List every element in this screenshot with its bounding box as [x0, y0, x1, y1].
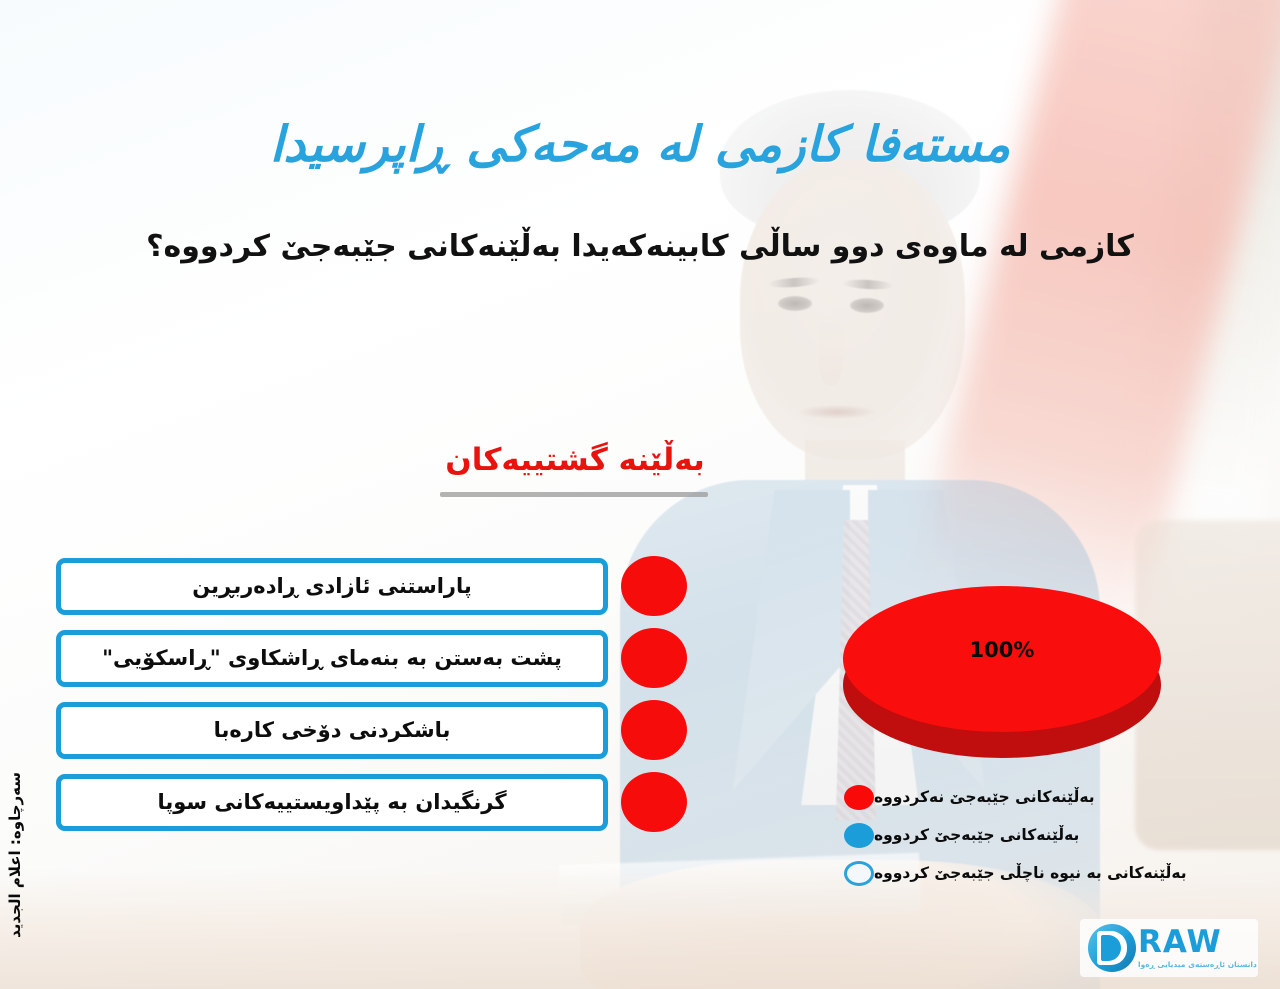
promise-text: پشت بەستن بە بنەمای ڕاشکاوی "ڕاسکۆیی": [102, 646, 562, 670]
promises-list: پاراستنی ئازادی ڕادەربڕین پشت بەستن بە ب…: [56, 552, 696, 840]
section-heading-general-promises: بەڵێنە گشتییەکان: [430, 442, 720, 478]
page-title: مستەفا کازمی لە مەحەکی ڕاپرسیدا: [0, 118, 1280, 172]
legend-label: بەڵێنەکانی بە نیوە ناچڵی جێبەجێ کردووە: [874, 864, 1187, 882]
draw-logo-tagline: دانستان ئاڕەستەی میدیایی ڕەوا: [1138, 961, 1257, 969]
promise-text: گرنگیدان بە پێداویستییەکانی سوپا: [157, 790, 506, 814]
foreground-content: مستەفا کازمی لە مەحەکی ڕاپرسیدا کازمی لە…: [0, 0, 1280, 989]
section-heading-underline: [440, 492, 708, 497]
red-circle-icon: [621, 700, 687, 760]
draw-logo-wordmark: RAW: [1138, 927, 1257, 958]
legend-item-fulfilled[interactable]: بەڵێنەکانی جێبەجێ کردووە: [830, 816, 1240, 854]
red-circle-icon: [621, 556, 687, 616]
legend-item-partially-fulfilled[interactable]: بەڵێنەکانی بە نیوە ناچڵی جێبەجێ کردووە: [830, 854, 1240, 892]
promise-label-box: گرنگیدان بە پێداویستییەکانی سوپا: [56, 774, 608, 831]
legend-label: بەڵێنەکانی جێبەجێ کردووە: [874, 826, 1079, 844]
promise-label-box: پاراستنی ئازادی ڕادەربڕین: [56, 558, 608, 615]
legend-marker-hollow-icon: [844, 861, 874, 886]
legend-item-not-fulfilled[interactable]: بەڵێنەکانی جێبەجێ نەکردووە: [830, 778, 1240, 816]
promise-text: پاراستنی ئازادی ڕادەربڕین: [192, 574, 472, 598]
infographic-canvas: مستەفا کازمی لە مەحەکی ڕاپرسیدا کازمی لە…: [0, 0, 1280, 989]
list-item[interactable]: باشکردنی دۆخی کارەبا: [56, 696, 696, 764]
list-item[interactable]: پاراستنی ئازادی ڕادەربڕین: [56, 552, 696, 620]
pie-chart: 100%: [843, 586, 1161, 758]
chart-legend: بەڵێنەکانی جێبەجێ نەکردووە بەڵێنەکانی جێ…: [830, 778, 1240, 892]
promise-text: باشکردنی دۆخی کارەبا: [214, 718, 451, 742]
promise-label-box: باشکردنی دۆخی کارەبا: [56, 702, 608, 759]
legend-marker-blue-icon: [844, 823, 874, 848]
red-circle-icon: [621, 772, 687, 832]
source-credit: سەرچاوە: اعلام الجديد: [6, 772, 34, 938]
promise-label-box: پشت بەستن بە بنەمای ڕاشکاوی "ڕاسکۆیی": [56, 630, 608, 687]
list-item[interactable]: گرنگیدان بە پێداویستییەکانی سوپا: [56, 768, 696, 836]
legend-marker-red-icon: [844, 785, 874, 810]
red-circle-icon: [621, 628, 687, 688]
draw-media-logo[interactable]: RAW دانستان ئاڕەستەی میدیایی ڕەوا: [1080, 919, 1258, 977]
list-item[interactable]: پشت بەستن بە بنەمای ڕاشکاوی "ڕاسکۆیی": [56, 624, 696, 692]
draw-logo-d-icon: [1088, 924, 1136, 972]
draw-logo-text: RAW دانستان ئاڕەستەی میدیایی ڕەوا: [1138, 927, 1257, 969]
legend-label: بەڵێنەکانی جێبەجێ نەکردووە: [874, 788, 1095, 806]
survey-question: کازمی لە ماوەی دوو ساڵی کابینەکەیدا بەڵێ…: [0, 228, 1280, 266]
pie-slice-value-label: 100%: [843, 638, 1161, 662]
